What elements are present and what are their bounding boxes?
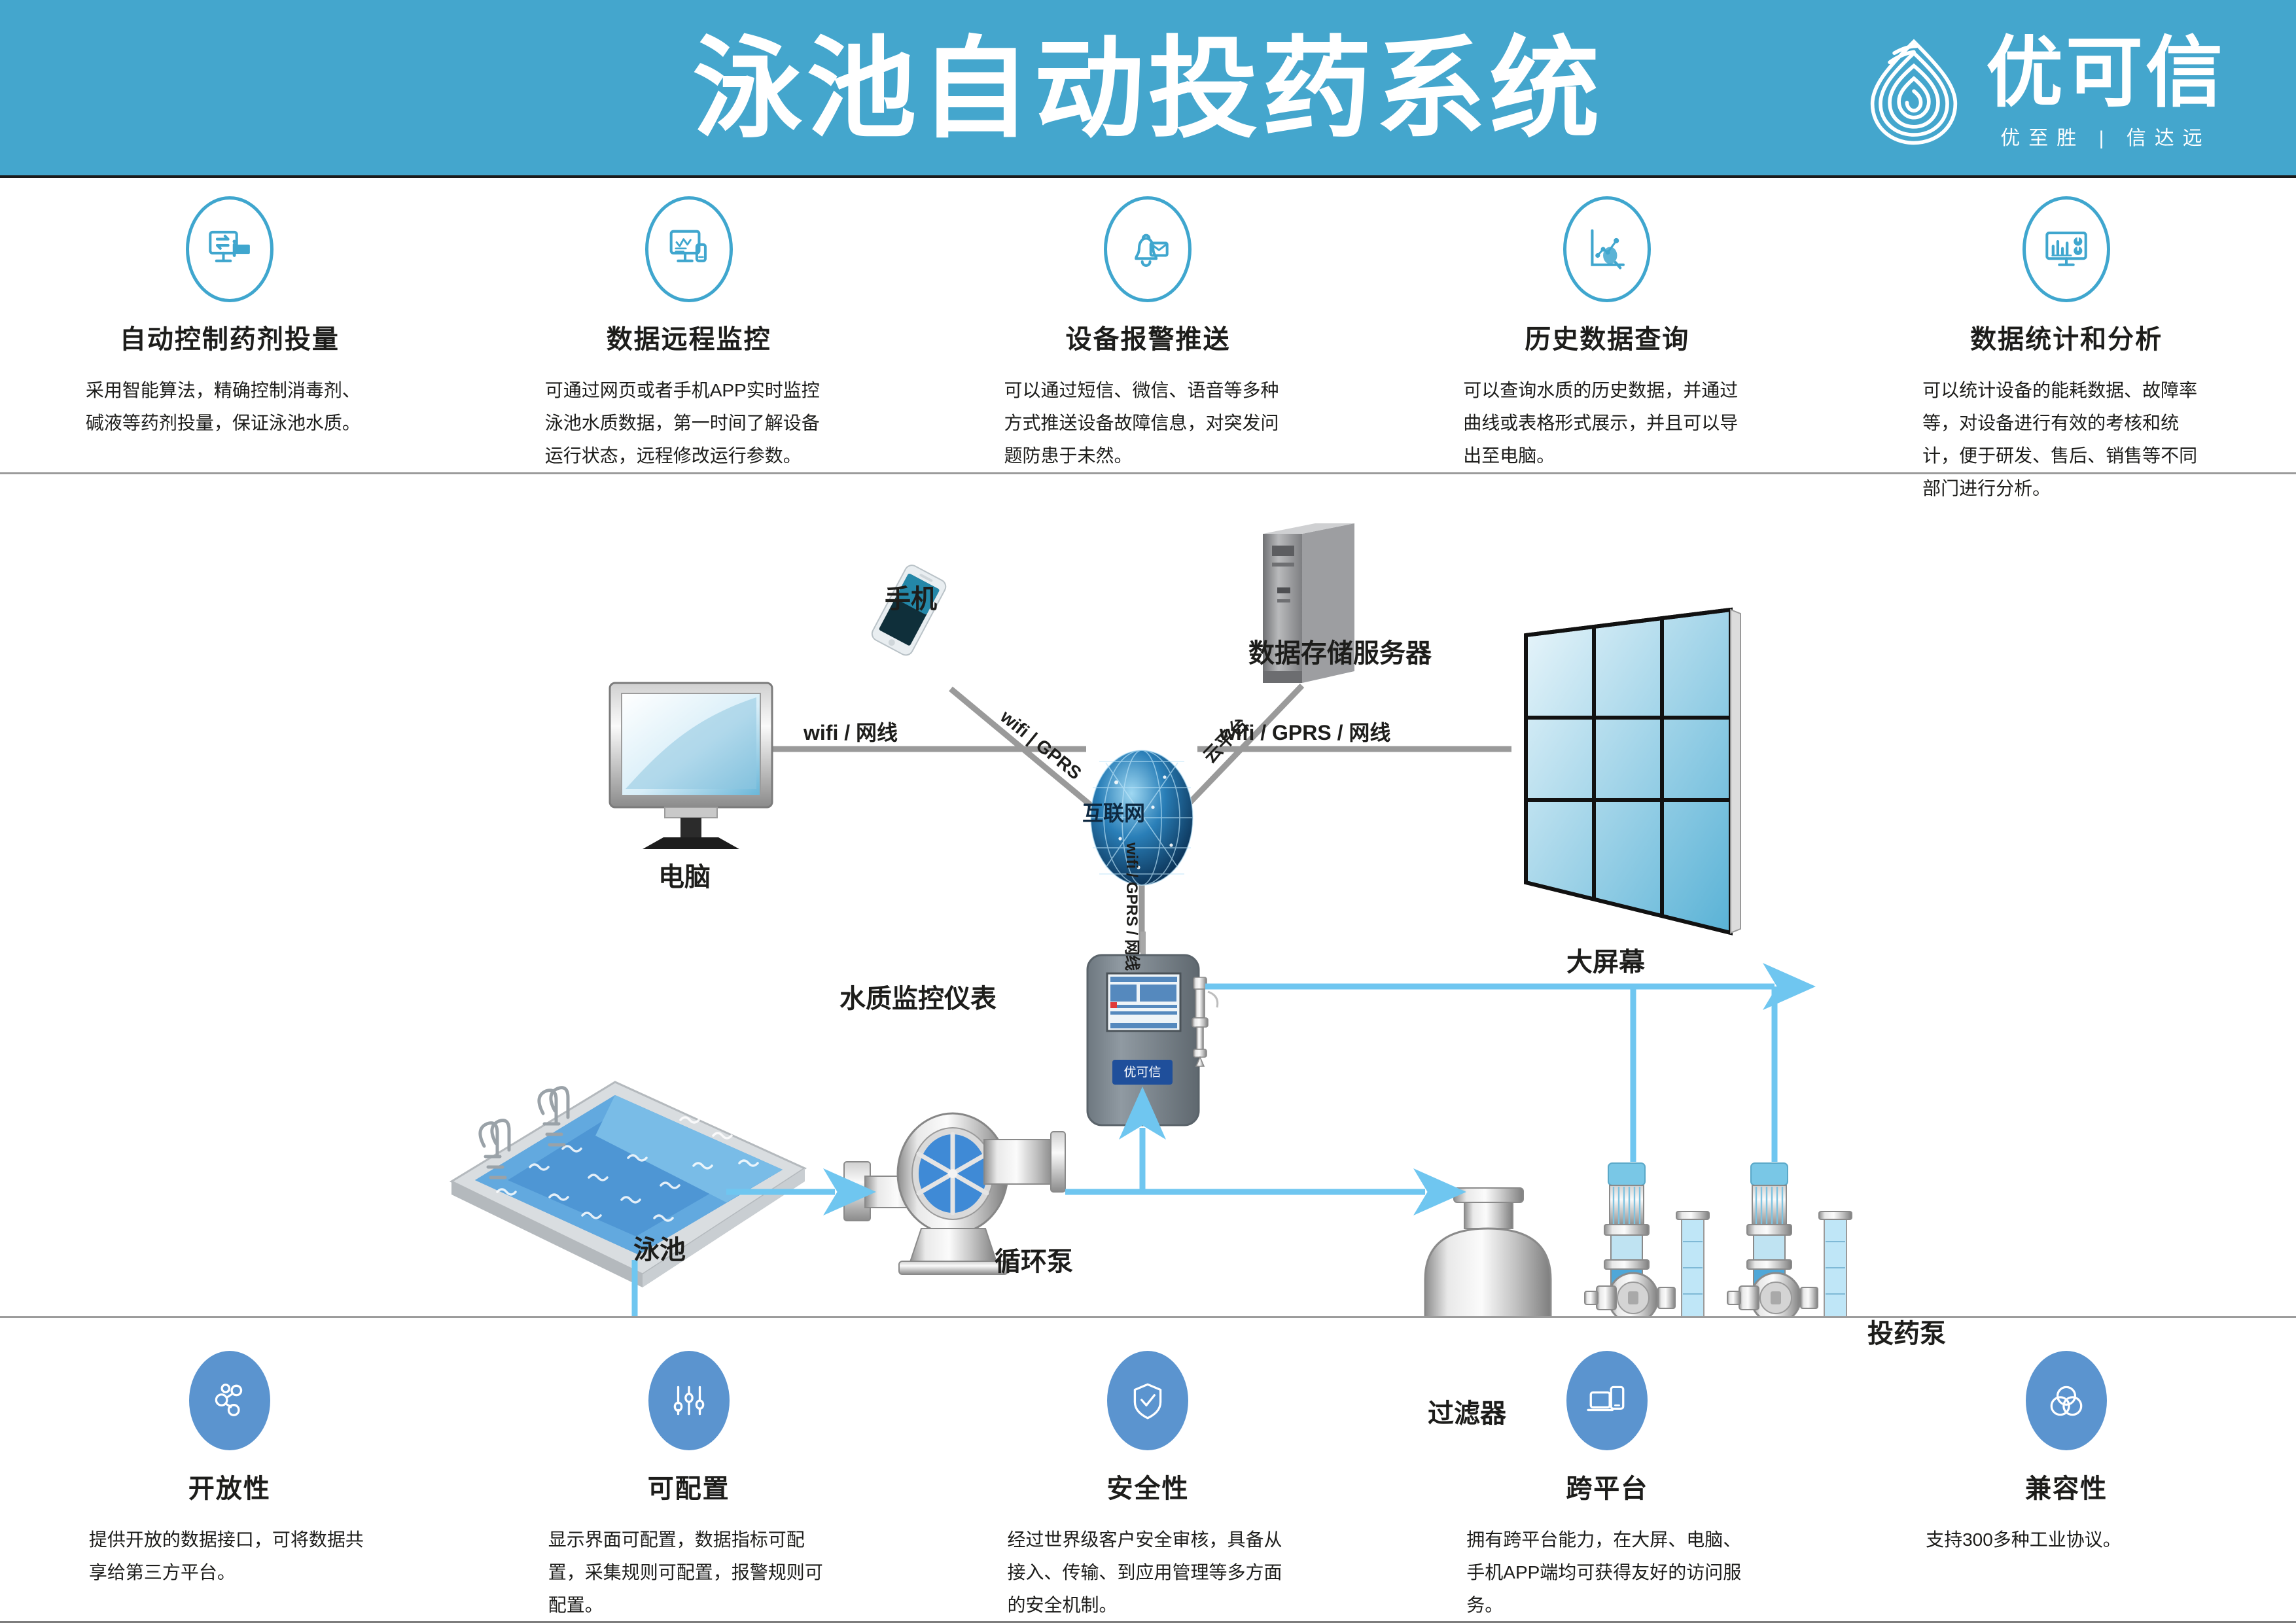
label-pool: 泳池 [633, 1229, 686, 1266]
feature-desc: 支持300多种工业协议。 [1926, 1524, 2207, 1556]
feature-title: 兼容性 [2025, 1467, 2108, 1505]
label-computer: 电脑 [658, 856, 711, 894]
label-server: 数据存储服务器 [1248, 632, 1432, 670]
link-label-phone: wifi | GPRS [996, 706, 1085, 784]
venn-circles-icon [2026, 1351, 2107, 1450]
divider-bottom [0, 1316, 2296, 1318]
feature-security: 安全性 经过世界级客户安全审核，具备从接入、传输、到应用管理等多方面的安全机制。 [919, 1351, 1378, 1613]
label-meter: 水质监控仪表 [839, 977, 997, 1015]
brand-tagline: 优至胜 | 信达远 [1986, 122, 2225, 150]
label-phone: 手机 [885, 578, 937, 616]
feature-title: 数据远程监控 [607, 318, 771, 356]
label-internet: 互联网 [1082, 797, 1145, 827]
monitor-exchange-icon [186, 196, 274, 302]
feature-desc: 采用智能算法，精确控制消毒剂、碱液等药剂投量，保证泳池水质。 [86, 374, 374, 440]
water-pipes [635, 986, 1856, 1316]
feature-desc: 经过世界级客户安全审核，具备从接入、传输、到应用管理等多方面的安全机制。 [1007, 1524, 1288, 1622]
monitor-chart-phone-icon [645, 196, 733, 302]
feature-desc: 可通过网页或者手机APP实时监控泳池水质数据，第一时间了解设备运行状态，远程修改… [545, 374, 833, 472]
feature-desc: 显示界面可配置，数据指标可配置，采集规则可配置，报警规则可配置。 [548, 1524, 830, 1622]
feature-title: 跨平台 [1566, 1467, 1648, 1505]
svg-text:优可信: 优可信 [1123, 1065, 1161, 1079]
feature-alarm-push: 设备报警推送 可以通过短信、微信、语音等多种方式推送设备故障信息，对突发问题防患… [919, 196, 1378, 461]
link-label-computer: wifi / 网线 [804, 716, 898, 746]
feature-desc: 可以查询水质的历史数据，并通过曲线或表格形式展示，并且可以导出至电脑。 [1463, 374, 1751, 472]
dosing-pump-left [1585, 1163, 1709, 1316]
feature-title: 历史数据查询 [1525, 318, 1689, 356]
page-header: 泳池自动投药系统 优可信 优至胜 | 信达远 [0, 0, 2296, 178]
feature-title: 安全性 [1106, 1467, 1189, 1505]
brand-name: 优可信 [1986, 34, 2225, 113]
feature-title: 开放性 [188, 1467, 271, 1505]
feature-desc: 提供开放的数据接口，可将数据共享给第三方平台。 [89, 1524, 370, 1589]
bell-mail-icon [1104, 196, 1192, 302]
bottom-feature-row: 开放性 提供开放的数据接口，可将数据共享给第三方平台。 可配置 显示界面可配置，… [0, 1351, 2296, 1613]
fingerprint-droplet-logo-icon [1856, 35, 1971, 150]
top-feature-row: 自动控制药剂投量 采用智能算法，精确控制消毒剂、碱液等药剂投量，保证泳池水质。 … [0, 196, 2296, 461]
link-label-down: wifi / GPRS / 网线 [1123, 842, 1140, 971]
feature-title: 可配置 [648, 1467, 730, 1505]
feature-compatibility: 兼容性 支持300多种工业协议。 [1837, 1351, 2296, 1613]
filter-tank [1425, 1188, 1551, 1316]
brand-logo: 优可信 优至胜 | 信达远 [1856, 34, 2225, 150]
feature-history-query: 历史数据查询 可以查询水质的历史数据，并通过曲线或表格形式展示，并且可以导出至电… [1377, 196, 1837, 461]
label-circpump: 循环泵 [995, 1240, 1073, 1278]
system-diagram: 优可信 [0, 475, 2296, 1316]
feature-cross-platform: 跨平台 拥有跨平台能力，在大屏、电脑、手机APP端均可获得友好的访问服务。 [1377, 1351, 1837, 1613]
divider-top [0, 472, 2296, 474]
feature-stats-analysis: 数据统计和分析 可以统计设备的能耗数据、故障率等，对设备进行有效的考核和统计，便… [1837, 196, 2296, 461]
feature-desc: 拥有跨平台能力，在大屏、电脑、手机APP端均可获得友好的访问服务。 [1466, 1524, 1748, 1622]
shield-check-icon [1107, 1351, 1188, 1450]
water-quality-meter: 优可信 [1087, 932, 1218, 1125]
devices-icon [1566, 1351, 1648, 1450]
dosing-pump-right [1727, 1163, 1852, 1316]
scatter-plot-magnify-icon [1563, 196, 1651, 302]
monitor-barchart-piechart-icon [2022, 196, 2110, 302]
computer-monitor [610, 683, 772, 849]
link-label-right: wifi / GPRS / 网线 [1220, 716, 1390, 746]
feature-desc: 可以通过短信、微信、语音等多种方式推送设备故障信息，对突发问题防患于未然。 [1004, 374, 1292, 472]
label-bigscreen: 大屏幕 [1566, 941, 1645, 979]
feature-title: 设备报警推送 [1065, 318, 1230, 356]
diagram-canvas: 优可信 [0, 475, 2296, 1316]
sliders-icon [648, 1351, 730, 1450]
feature-title: 数据统计和分析 [1970, 318, 2163, 356]
feature-openness: 开放性 提供开放的数据接口，可将数据共享给第三方平台。 [0, 1351, 459, 1613]
share-nodes-icon [189, 1351, 270, 1450]
swimming-pool [451, 1082, 805, 1287]
feature-auto-dosing: 自动控制药剂投量 采用智能算法，精确控制消毒剂、碱液等药剂投量，保证泳池水质。 [0, 196, 459, 461]
feature-configurable: 可配置 显示界面可配置，数据指标可配置，采集规则可配置，报警规则可配置。 [459, 1351, 919, 1613]
feature-title: 自动控制药剂投量 [120, 318, 340, 356]
feature-remote-monitoring: 数据远程监控 可通过网页或者手机APP实时监控泳池水质数据，第一时间了解设备运行… [459, 196, 919, 461]
